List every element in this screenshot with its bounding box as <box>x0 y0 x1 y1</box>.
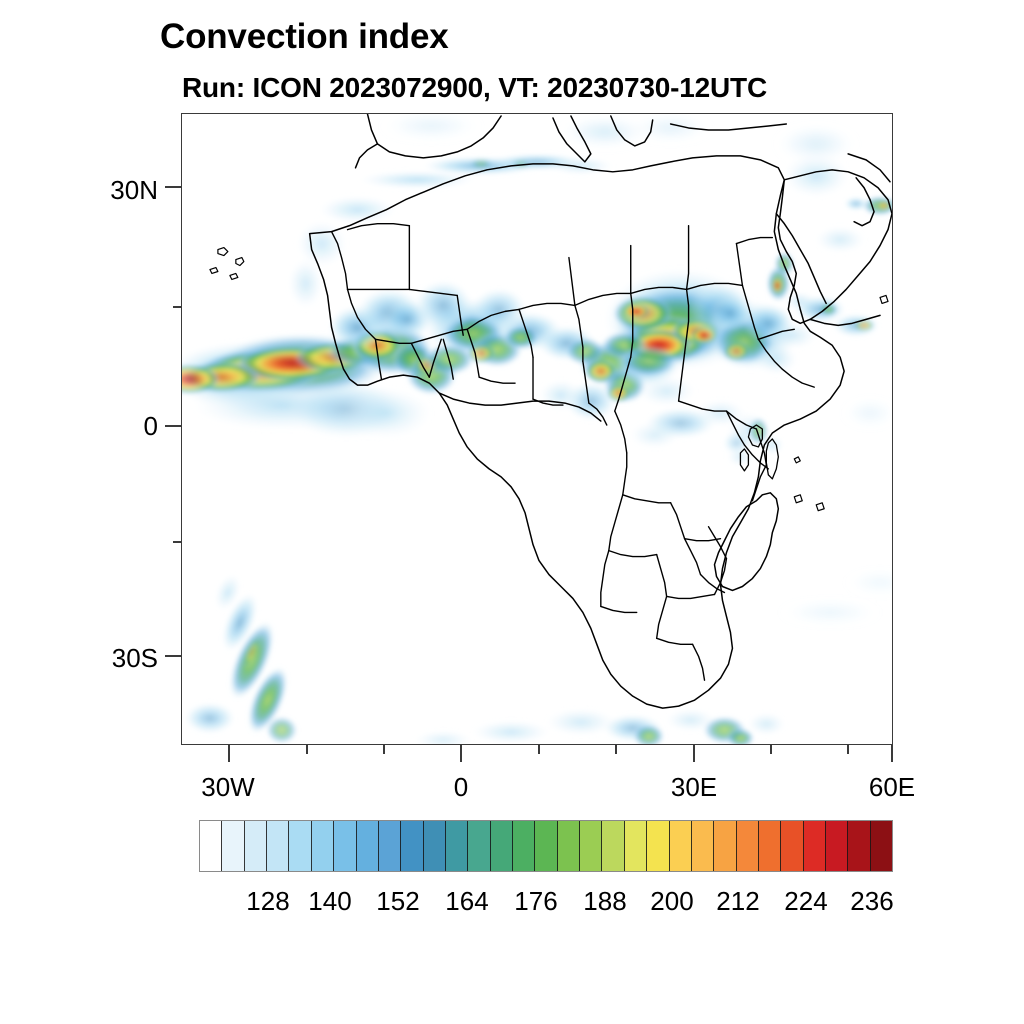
colorbar-cell-11 <box>446 821 468 871</box>
map-canvas <box>182 114 892 744</box>
x-axis-label-30w: 30W <box>168 772 288 803</box>
figure-subtitle: Run: ICON 2023072900, VT: 20230730-12UTC <box>182 72 767 104</box>
colorbar-cell-7 <box>357 821 379 871</box>
colorbar-cell-12 <box>468 821 490 871</box>
iran-coast <box>848 154 890 182</box>
colorbar-cell-4 <box>289 821 311 871</box>
x-tick-major-0 <box>460 745 462 762</box>
colorbar-cell-13 <box>491 821 513 871</box>
colorbar-cell-19 <box>625 821 647 871</box>
y-tick-minor-15s <box>173 541 182 543</box>
south-atlantic-front <box>184 569 298 744</box>
convection-index-figure: Convection index Run: ICON 2023072900, V… <box>0 0 1024 1024</box>
colorbar-cell-21 <box>670 821 692 871</box>
colorbar-label-236: 236 <box>812 886 932 917</box>
x-tick-minor-50e <box>847 745 849 754</box>
x-tick-minor-20e <box>615 745 617 754</box>
x-tick-major-30e <box>693 745 695 762</box>
colorbar-cell-25 <box>759 821 781 871</box>
y-axis-label-30s: 30S <box>48 643 158 674</box>
colorbar-cell-27 <box>804 821 826 871</box>
central-africa-patches <box>629 375 771 455</box>
colorbar-cell-5 <box>312 821 334 871</box>
colorbar-cell-6 <box>334 821 356 871</box>
colorbar-cell-22 <box>692 821 714 871</box>
colorbar-cell-2 <box>245 821 267 871</box>
colorbar-cell-1 <box>222 821 244 871</box>
southern-ocean-front <box>413 708 786 744</box>
colorbar[interactable] <box>199 820 893 872</box>
x-axis-label-60e: 60E <box>832 772 952 803</box>
colorbar-cell-15 <box>535 821 557 871</box>
x-tick-major-60e <box>891 745 893 762</box>
colorbar-cell-9 <box>401 821 423 871</box>
colorbar-cell-17 <box>580 821 602 871</box>
colorbar-cell-24 <box>737 821 759 871</box>
y-tick-major-0 <box>165 425 182 427</box>
y-tick-major-30n <box>165 186 182 188</box>
colorbar-cell-26 <box>781 821 803 871</box>
colorbar-cell-30 <box>871 821 892 871</box>
colorbar-cell-18 <box>602 821 624 871</box>
y-axis-label-30n: 30N <box>48 175 158 206</box>
iberia-southern-edge <box>356 144 378 168</box>
x-tick-minor-20w <box>306 745 308 754</box>
x-tick-minor-40e <box>770 745 772 754</box>
madagascar <box>715 493 779 591</box>
colorbar-cell-16 <box>558 821 580 871</box>
colorbar-cell-29 <box>848 821 870 871</box>
colorbar-cell-10 <box>424 821 446 871</box>
mediterranean-wisps <box>381 114 856 162</box>
colorbar-cell-8 <box>379 821 401 871</box>
page-title: Convection index <box>160 17 449 57</box>
x-axis-label-30e: 30E <box>634 772 754 803</box>
y-tick-minor-15n <box>173 306 182 308</box>
colorbar-cell-28 <box>826 821 848 871</box>
colorbar-cell-14 <box>513 821 535 871</box>
convection-field <box>182 114 892 744</box>
x-tick-minor-10e <box>538 745 540 754</box>
y-axis-label-0: 0 <box>48 411 158 442</box>
map-plot-area <box>181 113 893 745</box>
indian-ocean-streaks <box>780 401 892 622</box>
y-tick-major-30s <box>165 655 182 657</box>
colorbar-cell-3 <box>267 821 289 871</box>
x-tick-major-30w <box>228 745 230 762</box>
colorbar-cell-20 <box>647 821 669 871</box>
colorbar-cell-23 <box>714 821 736 871</box>
colorbar-cell-0 <box>200 821 222 871</box>
x-tick-minor-10w <box>383 745 385 754</box>
x-axis-label-0: 0 <box>401 772 521 803</box>
